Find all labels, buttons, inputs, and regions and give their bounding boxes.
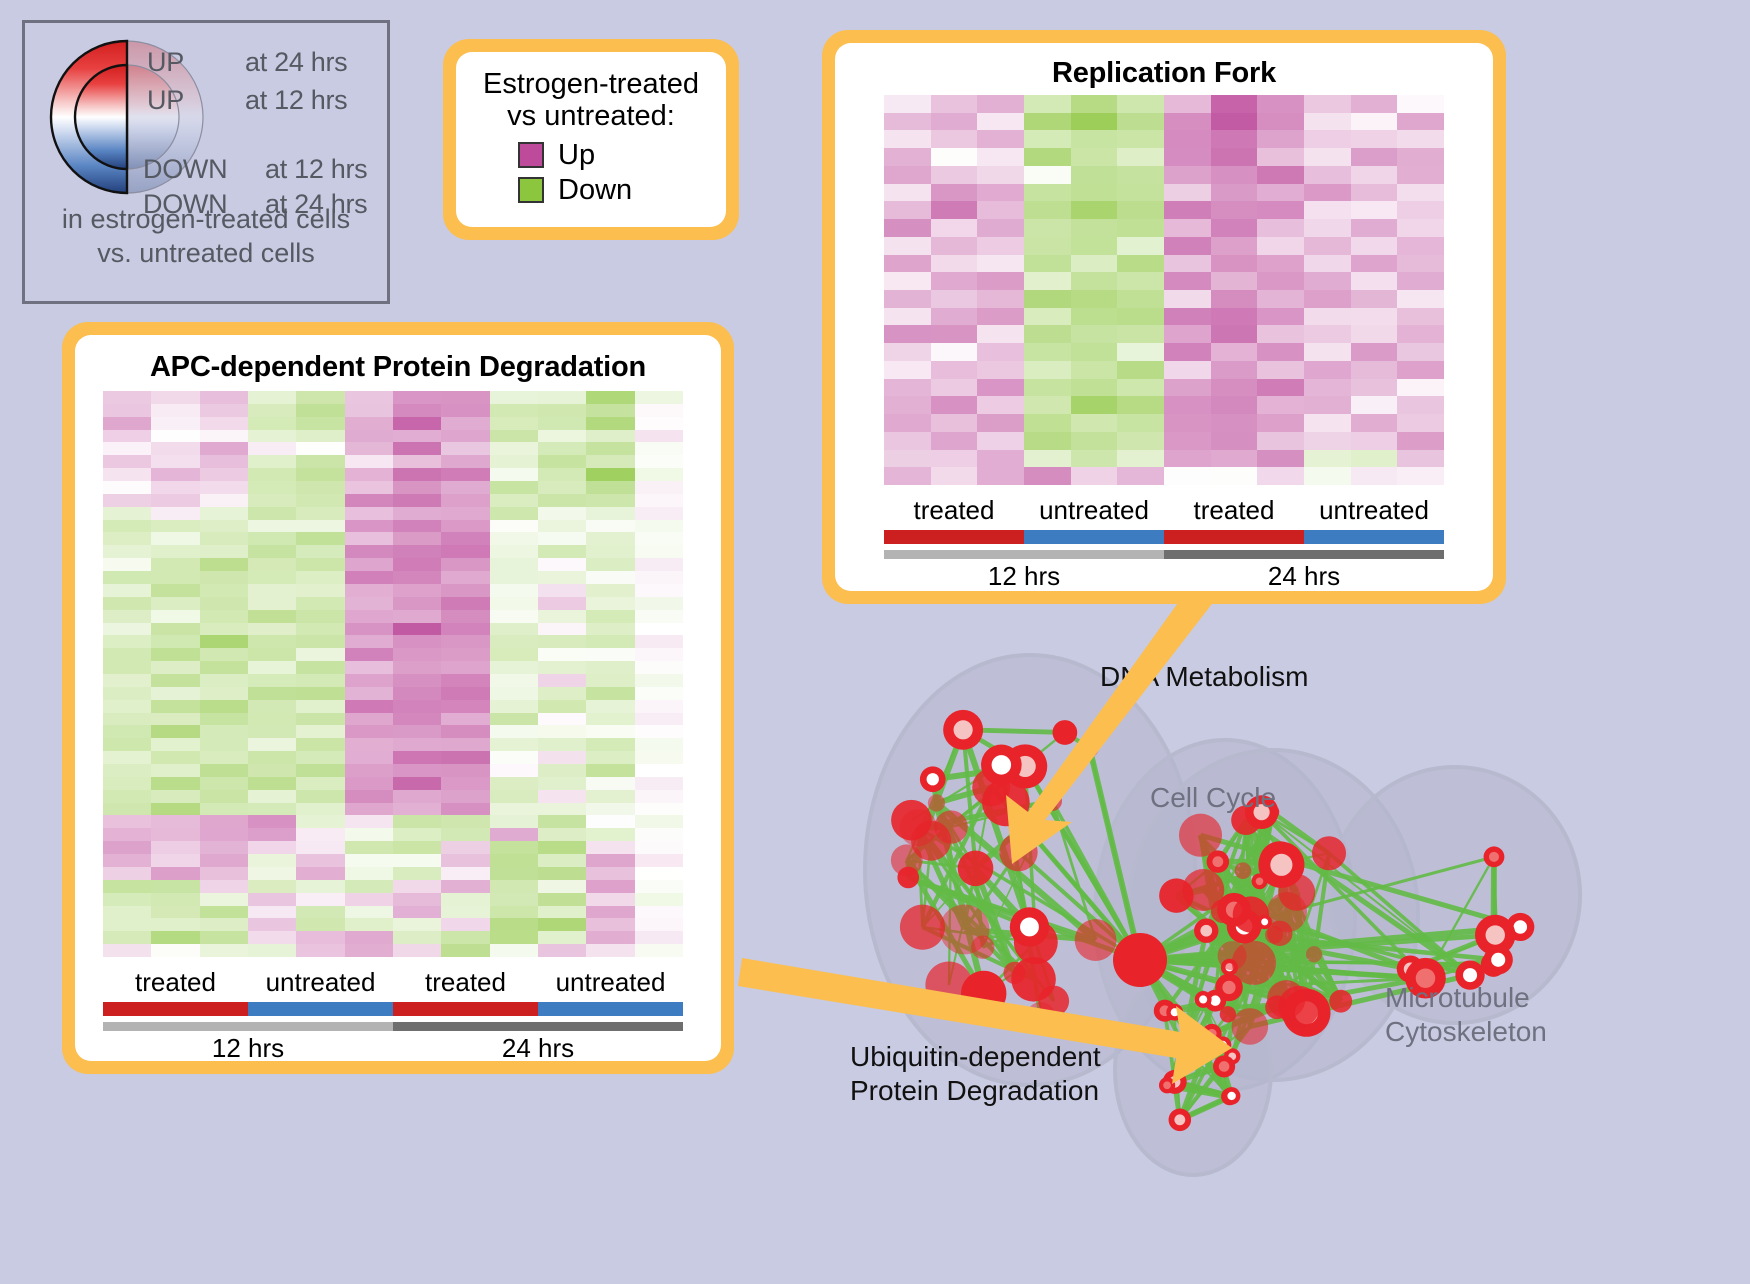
axis-time-label: 24 hrs	[1164, 561, 1444, 591]
heatmap-cell	[977, 272, 1024, 290]
heatmap-cell	[538, 751, 586, 764]
heatmap-cell	[200, 725, 248, 738]
color-key-box: UP at 24 hrs UP at 12 hrs DOWN at 12 hrs…	[22, 20, 390, 304]
heatmap-cell	[1304, 95, 1351, 113]
heatmap-cell	[538, 623, 586, 636]
heatmap-cell	[538, 841, 586, 854]
heatmap-cell	[345, 481, 393, 494]
heatmap-cell	[393, 931, 441, 944]
heatmap-cell	[1397, 432, 1444, 450]
heatmap-cell	[151, 918, 199, 931]
heatmap-cell	[1351, 450, 1398, 468]
heatmap-cell	[586, 455, 634, 468]
heatmap-cell	[931, 343, 978, 361]
heatmap-cell	[151, 584, 199, 597]
heatmap-cell	[1164, 255, 1211, 273]
heatmap-cell	[1351, 290, 1398, 308]
axis-group-label: untreated	[248, 967, 393, 998]
heatmap-cell	[151, 880, 199, 893]
heatmap-cell	[538, 944, 586, 957]
heatmap-cell	[1117, 130, 1164, 148]
axis-group-swatch	[884, 530, 1024, 544]
network-node-core	[1171, 1008, 1179, 1016]
heatmap-cell	[538, 597, 586, 610]
network-node-core	[1180, 1042, 1189, 1051]
heatmap-cell	[1071, 290, 1118, 308]
heatmap-cell	[1164, 467, 1211, 485]
heatmap-cell	[538, 442, 586, 455]
heatmap-cell	[103, 725, 151, 738]
heatmap-cell	[977, 166, 1024, 184]
heatmap-cell	[538, 391, 586, 404]
network-node	[1312, 836, 1346, 870]
heatmap-cell	[586, 520, 634, 533]
heatmap-cell	[151, 751, 199, 764]
heatmap-cell	[1024, 379, 1071, 397]
heatmap-cell	[1211, 432, 1258, 450]
heatmap-cell	[1164, 237, 1211, 255]
heatmap-cell	[248, 494, 296, 507]
heatmap-cell	[441, 520, 489, 533]
heatmap-cell	[1024, 467, 1071, 485]
heatmap-cell	[345, 674, 393, 687]
heatmap-cell	[393, 918, 441, 931]
heatmap-cell	[1071, 166, 1118, 184]
heatmap-cell	[1397, 308, 1444, 326]
heatmap-cell	[1211, 201, 1258, 219]
heatmap-cell	[1071, 325, 1118, 343]
heatmap-cell	[345, 738, 393, 751]
heatmap-cell	[490, 713, 538, 726]
heatmap-cell	[103, 906, 151, 919]
network-node	[1179, 814, 1222, 857]
heatmap-cell	[490, 494, 538, 507]
heatmap-cell	[248, 404, 296, 417]
heatmap-cell	[345, 558, 393, 571]
heatmap-cell	[393, 700, 441, 713]
heatmap-cell	[538, 481, 586, 494]
heatmap-cell	[345, 918, 393, 931]
heatmap-cell	[200, 391, 248, 404]
network-node	[961, 971, 1006, 1016]
heatmap-cell	[884, 325, 931, 343]
heatmap-cell	[1071, 414, 1118, 432]
heatmap-cell	[248, 442, 296, 455]
heatmap-apc-degradation	[103, 391, 683, 957]
heatmap-cell	[490, 661, 538, 674]
heatmap-cell	[586, 468, 634, 481]
heatmap-cell	[1304, 113, 1351, 131]
network-node-core	[1227, 1092, 1235, 1100]
legend-item-down: Down	[518, 174, 716, 207]
legend-swatch-down-icon	[518, 177, 544, 203]
heatmap-cell	[151, 404, 199, 417]
heatmap-cell	[393, 841, 441, 854]
heatmap-cell	[296, 417, 344, 430]
heatmap-cell	[538, 803, 586, 816]
heatmap-cell	[393, 635, 441, 648]
heatmap-cell	[441, 725, 489, 738]
heatmap-cell	[490, 931, 538, 944]
heatmap-cell	[441, 815, 489, 828]
heatmap-cell	[345, 700, 393, 713]
heatmap-cell	[441, 558, 489, 571]
heatmap-cell	[441, 610, 489, 623]
heatmap-cell	[248, 545, 296, 558]
heatmap-cell	[441, 790, 489, 803]
heatmap-cell	[200, 764, 248, 777]
heatmap-cell	[1304, 237, 1351, 255]
heatmap-cell	[490, 867, 538, 880]
heatmap-cell	[1024, 113, 1071, 131]
heatmap-cell	[1024, 361, 1071, 379]
heatmap-cell	[635, 854, 683, 867]
heatmap-cell	[1024, 308, 1071, 326]
heatmap-cell	[635, 713, 683, 726]
heatmap-cell	[296, 841, 344, 854]
heatmap-cell	[393, 532, 441, 545]
heatmap-cell	[103, 571, 151, 584]
heatmap-cell	[586, 738, 634, 751]
heatmap-cell	[1351, 237, 1398, 255]
heatmap-cell	[393, 828, 441, 841]
heatmap-cell	[1257, 113, 1304, 131]
heatmap-cell	[490, 751, 538, 764]
heatmap-cell	[1024, 148, 1071, 166]
heatmap-cell	[200, 558, 248, 571]
heatmap-cell	[1117, 379, 1164, 397]
heatmap-cell	[151, 532, 199, 545]
heatmap-cell	[345, 764, 393, 777]
heatmap-cell	[103, 803, 151, 816]
heatmap-cell	[1211, 113, 1258, 131]
heatmap-cell	[586, 674, 634, 687]
heatmap-cell	[345, 597, 393, 610]
heatmap-cell	[296, 815, 344, 828]
heatmap-cell	[248, 790, 296, 803]
heatmap-cell	[490, 597, 538, 610]
heatmap-cell	[1024, 290, 1071, 308]
heatmap-cell	[345, 687, 393, 700]
heatmap-cell	[296, 571, 344, 584]
network-node-core	[992, 755, 1011, 774]
heatmap-cell	[103, 790, 151, 803]
heatmap-cell	[977, 113, 1024, 131]
heatmap-cell	[103, 700, 151, 713]
heatmap-cell	[103, 455, 151, 468]
heatmap-cell	[977, 130, 1024, 148]
heatmap-cell	[393, 880, 441, 893]
heatmap-cell	[1211, 379, 1258, 397]
heatmap-cell	[1117, 95, 1164, 113]
heatmap-cell	[635, 880, 683, 893]
axis-group-swatch	[1304, 530, 1444, 544]
heatmap-cell	[200, 841, 248, 854]
heatmap-cell	[1211, 237, 1258, 255]
legend-heading-line1: Estrogen-treated	[466, 68, 716, 100]
axis-time-labels-rf: 12 hrs24 hrs	[884, 561, 1444, 591]
heatmap-cell	[1397, 450, 1444, 468]
heatmap-cell	[103, 635, 151, 648]
heatmap-cell	[1164, 379, 1211, 397]
heatmap-cell	[884, 219, 931, 237]
heatmap-cell	[1164, 95, 1211, 113]
heatmap-cell	[1257, 432, 1304, 450]
network-node	[1267, 980, 1305, 1018]
heatmap-cell	[296, 713, 344, 726]
heatmap-cell	[1164, 166, 1211, 184]
heatmap-cell	[1164, 450, 1211, 468]
heatmap-cell	[1351, 184, 1398, 202]
heatmap-cell	[538, 854, 586, 867]
heatmap-cell	[1351, 325, 1398, 343]
heatmap-cell	[296, 635, 344, 648]
heatmap-cell	[441, 468, 489, 481]
heatmap-cell	[296, 455, 344, 468]
heatmap-cell	[393, 648, 441, 661]
heatmap-cell	[200, 661, 248, 674]
heatmap-cell	[931, 184, 978, 202]
heatmap-cell	[490, 687, 538, 700]
heatmap-cell	[103, 880, 151, 893]
heatmap-cell	[1397, 201, 1444, 219]
heatmap-cell	[538, 906, 586, 919]
heatmap-cell	[1071, 237, 1118, 255]
heatmap-cell	[931, 219, 978, 237]
heatmap-cell	[538, 687, 586, 700]
heatmap-cell	[200, 442, 248, 455]
heatmap-cell	[1304, 343, 1351, 361]
heatmap-cell	[345, 430, 393, 443]
network-node-core	[1219, 1061, 1230, 1072]
heatmap-cell	[1117, 237, 1164, 255]
heatmap-cell	[248, 571, 296, 584]
heatmap-cell	[441, 906, 489, 919]
heatmap-cell	[1071, 361, 1118, 379]
heatmap-cell	[441, 841, 489, 854]
heatmap-cell	[441, 545, 489, 558]
heatmap-cell	[248, 468, 296, 481]
heatmap-cell	[490, 417, 538, 430]
heatmap-cell	[200, 815, 248, 828]
network-node	[1267, 921, 1292, 946]
heatmap-cell	[884, 414, 931, 432]
heatmap-cell	[441, 674, 489, 687]
heatmap-cell	[200, 918, 248, 931]
heatmap-cell	[200, 674, 248, 687]
network-label-dna-metabolism: DNA Metabolism	[1100, 660, 1309, 694]
heatmap-cell	[151, 790, 199, 803]
heatmap-cell	[1211, 450, 1258, 468]
heatmap-cell	[296, 481, 344, 494]
heatmap-cell	[586, 931, 634, 944]
heatmap-cell	[441, 661, 489, 674]
heatmap-cell	[103, 623, 151, 636]
heatmap-cell	[635, 404, 683, 417]
heatmap-cell	[393, 777, 441, 790]
network-node-core	[1256, 878, 1264, 886]
heatmap-cell	[345, 880, 393, 893]
heatmap-cell	[1211, 414, 1258, 432]
heatmap-cell	[586, 700, 634, 713]
heatmap-cell	[977, 343, 1024, 361]
heatmap-cell	[538, 893, 586, 906]
heatmap-cell	[1211, 148, 1258, 166]
heatmap-cell	[490, 455, 538, 468]
heatmap-cell	[1117, 414, 1164, 432]
axis-time-label: 24 hrs	[393, 1033, 683, 1061]
heatmap-cell	[1024, 255, 1071, 273]
heatmap-cell	[441, 417, 489, 430]
heatmap-cell	[441, 931, 489, 944]
heatmap-cell	[1117, 272, 1164, 290]
heatmap-cell	[200, 494, 248, 507]
heatmap-cell	[248, 738, 296, 751]
heatmap-cell	[884, 272, 931, 290]
heatmap-cell	[884, 113, 931, 131]
heatmap-cell	[1071, 432, 1118, 450]
heatmap-cell	[441, 764, 489, 777]
heatmap-cell	[248, 906, 296, 919]
heatmap-cell	[1117, 308, 1164, 326]
heatmap-cell	[977, 379, 1024, 397]
heatmap-cell	[151, 507, 199, 520]
heatmap-cell	[1304, 450, 1351, 468]
heatmap-cell	[490, 725, 538, 738]
heatmap-cell	[1117, 148, 1164, 166]
heatmap-cell	[1117, 450, 1164, 468]
heatmap-cell	[1257, 396, 1304, 414]
heatmap-replication-fork	[884, 95, 1444, 485]
heatmap-cell	[1397, 467, 1444, 485]
heatmap-cell	[490, 532, 538, 545]
heatmap-cell	[931, 290, 978, 308]
heatmap-cell	[200, 520, 248, 533]
heatmap-cell	[931, 361, 978, 379]
heatmap-cell	[200, 532, 248, 545]
heatmap-cell	[296, 777, 344, 790]
heatmap-cell	[393, 944, 441, 957]
heatmap-cell	[103, 545, 151, 558]
heatmap-cell	[1024, 396, 1071, 414]
heatmap-cell	[538, 494, 586, 507]
heatmap-cell	[296, 687, 344, 700]
axis-group-swatch	[248, 1002, 393, 1016]
heatmap-cell	[1351, 308, 1398, 326]
heatmap-cell	[296, 867, 344, 880]
heatmap-cell	[586, 507, 634, 520]
heatmap-cell	[635, 417, 683, 430]
heatmap-cell	[1397, 414, 1444, 432]
heatmap-cell	[393, 455, 441, 468]
heatmap-cell	[393, 854, 441, 867]
heatmap-cell	[200, 880, 248, 893]
heatmap-cell	[1024, 414, 1071, 432]
heatmap-cell	[103, 854, 151, 867]
heatmap-cell	[393, 481, 441, 494]
heatmap-cell	[151, 571, 199, 584]
heatmap-cell	[1397, 130, 1444, 148]
heatmap-cell	[151, 841, 199, 854]
heatmap-cell	[103, 430, 151, 443]
heatmap-cell	[393, 494, 441, 507]
heatmap-cell	[490, 584, 538, 597]
network-node-core	[1270, 854, 1292, 876]
heatmap-cell	[635, 468, 683, 481]
heatmap-cell	[103, 442, 151, 455]
heatmap-cell	[538, 738, 586, 751]
heatmap-cell	[296, 828, 344, 841]
heatmap-cell	[977, 414, 1024, 432]
heatmap-cell	[538, 764, 586, 777]
heatmap-cell	[103, 597, 151, 610]
network-node-core	[1261, 918, 1268, 925]
heatmap-cell	[977, 237, 1024, 255]
heatmap-cell	[884, 237, 931, 255]
heatmap-cell	[248, 841, 296, 854]
heatmap-cell	[586, 635, 634, 648]
network-node	[1042, 791, 1062, 811]
heatmap-cell	[538, 790, 586, 803]
heatmap-cell	[151, 893, 199, 906]
heatmap-cell	[441, 687, 489, 700]
heatmap-cell	[1117, 166, 1164, 184]
heatmap-cell	[1351, 432, 1398, 450]
heatmap-cell	[1071, 201, 1118, 219]
heatmap-cell	[248, 623, 296, 636]
heatmap-cell	[538, 558, 586, 571]
heatmap-cell	[586, 584, 634, 597]
heatmap-cell	[884, 255, 931, 273]
heatmap-cell	[200, 430, 248, 443]
axis-replication-fork: treateduntreatedtreateduntreated 12 hrs2…	[884, 495, 1444, 591]
heatmap-cell	[103, 931, 151, 944]
heatmap-cell	[538, 867, 586, 880]
heatmap-cell	[248, 944, 296, 957]
heatmap-cell	[248, 391, 296, 404]
heatmap-cell	[1351, 201, 1398, 219]
heatmap-cell	[393, 417, 441, 430]
heatmap-cell	[151, 713, 199, 726]
heatmap-cell	[103, 391, 151, 404]
network-label-microtubule-line2: Cytoskeleton	[1385, 1015, 1547, 1049]
axis-time-swatch	[1164, 550, 1444, 559]
heatmap-cell	[393, 442, 441, 455]
heatmap-cell	[1071, 343, 1118, 361]
axis-group-label: untreated	[1304, 495, 1444, 526]
heatmap-cell	[490, 828, 538, 841]
network-node	[897, 867, 919, 889]
heatmap-cell	[345, 507, 393, 520]
heatmap-cell	[931, 325, 978, 343]
heatmap-cell	[151, 494, 199, 507]
heatmap-cell	[931, 95, 978, 113]
heatmap-cell	[490, 648, 538, 661]
heatmap-cell	[200, 468, 248, 481]
heatmap-cell	[1071, 130, 1118, 148]
heatmap-cell	[296, 623, 344, 636]
heatmap-cell	[200, 931, 248, 944]
heatmap-cell	[586, 751, 634, 764]
heatmap-cell	[1071, 219, 1118, 237]
heatmap-cell	[1397, 184, 1444, 202]
heatmap-cell	[296, 751, 344, 764]
heatmap-cell	[586, 713, 634, 726]
heatmap-cell	[345, 828, 393, 841]
heatmap-cell	[200, 893, 248, 906]
heatmap-cell	[884, 379, 931, 397]
heatmap-cell	[103, 417, 151, 430]
